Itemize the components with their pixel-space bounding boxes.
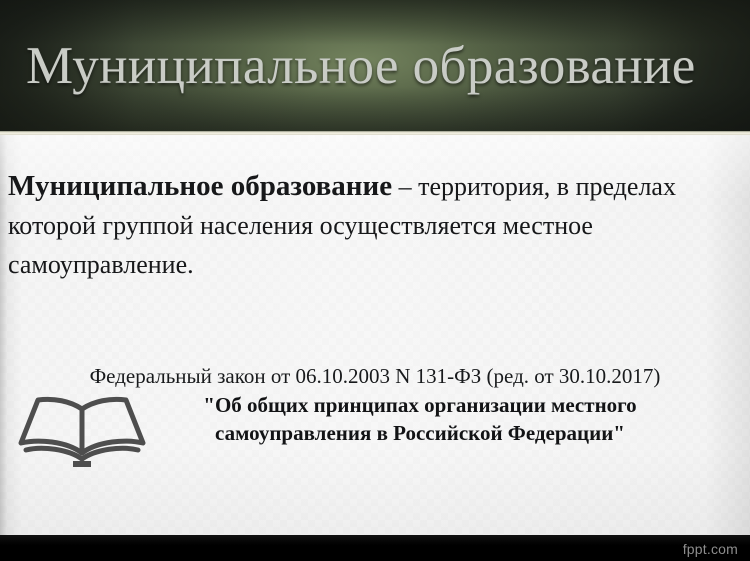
open-book-icon	[16, 393, 148, 469]
presentation-slide: Муниципальное образование Муниципальное …	[0, 0, 750, 561]
definition-paragraph: Муниципальное образование – территория, …	[8, 167, 744, 284]
law-citation: Федеральный закон от 06.10.2003 N 131-ФЗ…	[0, 363, 750, 390]
slide-header-banner: Муниципальное образование	[0, 0, 750, 131]
header-divider	[0, 131, 750, 135]
slide-body: Муниципальное образование – территория, …	[0, 135, 750, 535]
law-title: "Об общих принципах организации местного…	[140, 391, 700, 447]
source-watermark: fppt.com	[683, 540, 738, 558]
definition-term: Муниципальное образование	[8, 170, 392, 202]
page-title: Муниципальное образование	[26, 36, 732, 96]
footer-bar	[0, 535, 750, 561]
